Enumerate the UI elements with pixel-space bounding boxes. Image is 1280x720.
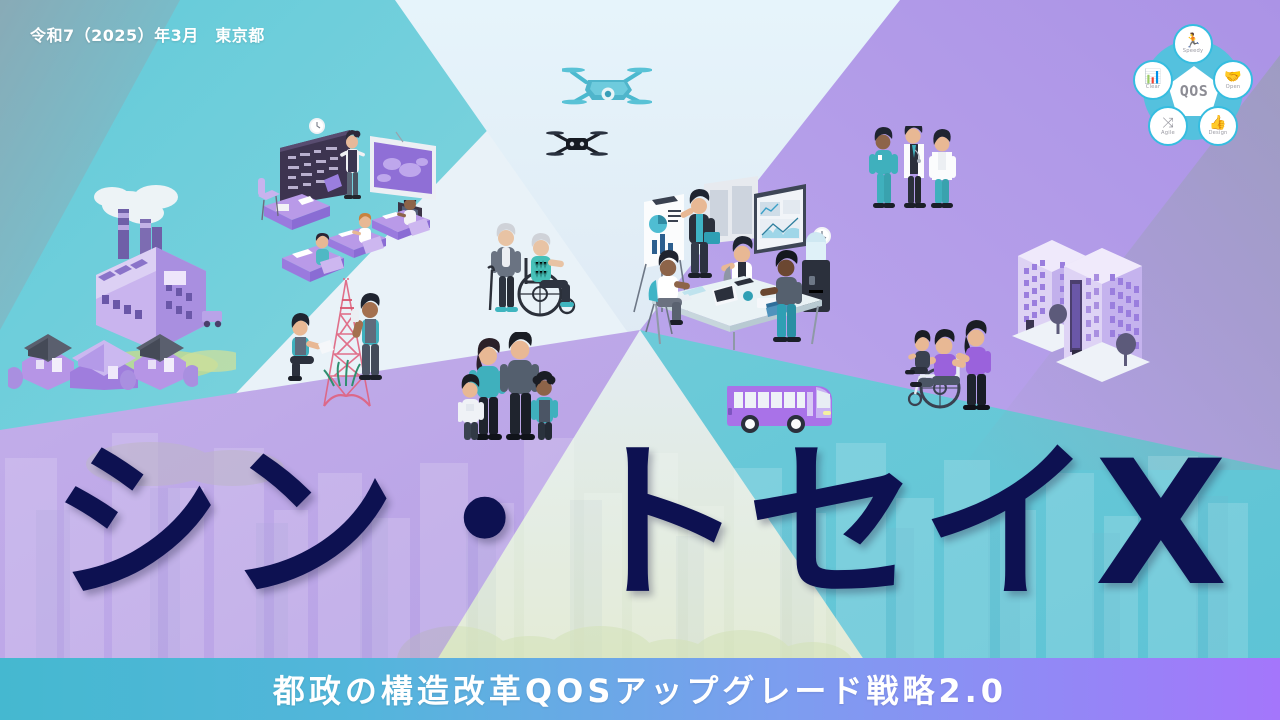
scene-students [270,200,440,290]
scene-apartment-towers [1004,232,1164,394]
qos-node-open: 🤝 Open [1213,60,1253,100]
qos-node-label-open: Open [1226,84,1241,90]
banner-subtitle: 都政の構造改革QOSアップグレード戦略2.0 [273,666,1007,712]
qos-badge: QOS 🏃 Speedy 🤝 Open 👍 Design ⤨ Agile 📊 C… [1128,18,1258,158]
qos-center-label: QOS [1180,82,1209,100]
handshake-icon: 🤝 [1224,70,1241,83]
qos-node-design: 👍 Design [1198,106,1238,146]
qos-node-label-clear: Clear [1146,84,1161,90]
qos-node-label-agile: Agile [1161,130,1175,136]
scene-elderly-wheelchair [482,222,592,322]
scene-office-meeting [626,172,846,352]
shuffle-arrows-icon: ⤨ [1162,116,1173,129]
qos-node-clear: 📊 Clear [1133,60,1173,100]
poster-root: 令和7（2025）年3月 東京都 QOS 🏃 Speedy 🤝 Open 👍 D… [0,0,1280,720]
scene-drone-large [562,58,652,116]
scene-tokyo-tower [284,278,414,413]
page-title: シン・トセイX [0,440,1280,608]
scene-medical-staff [866,126,962,218]
bottom-banner: 都政の構造改革QOSアップグレード戦略2.0 [0,658,1280,720]
scene-houses [8,300,198,390]
bar-chart-icon: 📊 [1144,70,1161,83]
date-line: 令和7（2025）年3月 東京都 [30,22,265,46]
runner-icon: 🏃 [1184,34,1201,47]
qos-node-speedy: 🏃 Speedy [1173,24,1213,64]
scene-drone-small [546,122,608,162]
thumbs-up-icon: 👍 [1209,116,1226,129]
qos-node-label-design: Design [1208,130,1227,136]
qos-node-label-speedy: Speedy [1183,48,1204,54]
qos-node-agile: ⤨ Agile [1148,106,1188,146]
scene-family-wheelchair [896,316,1004,416]
